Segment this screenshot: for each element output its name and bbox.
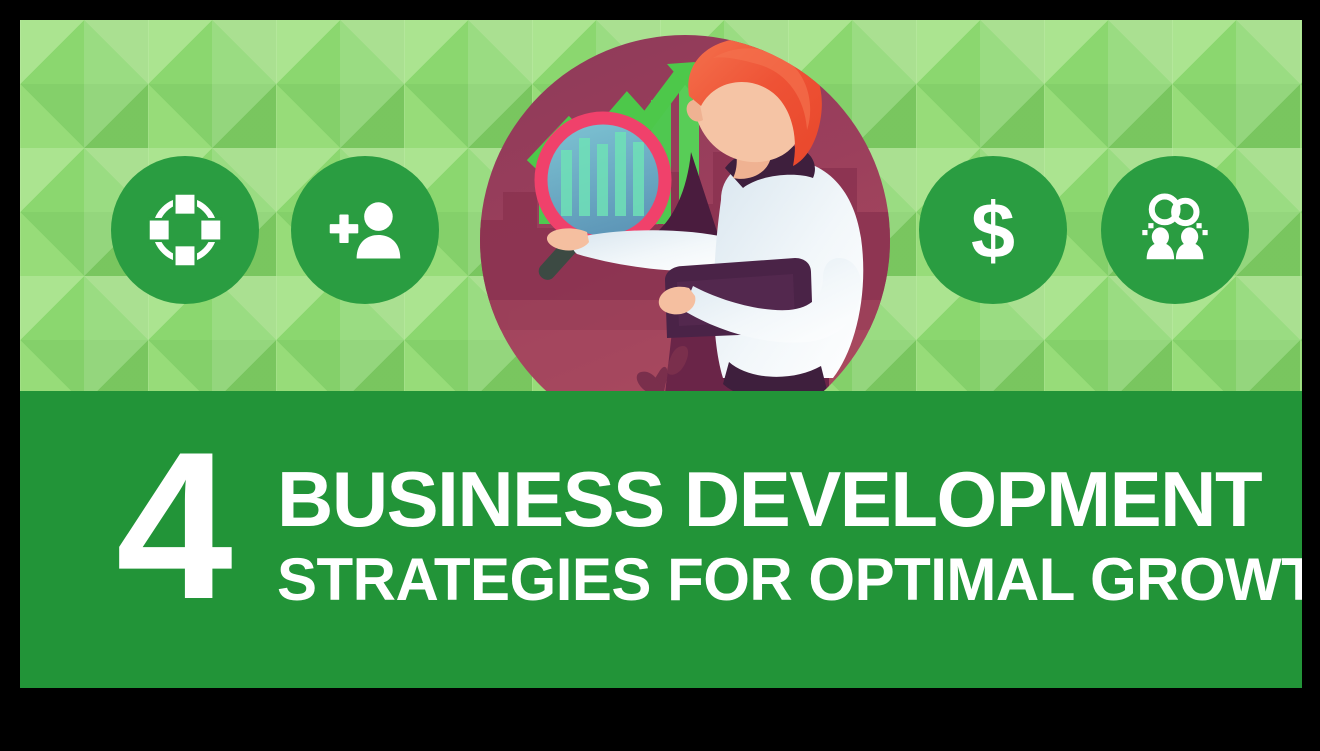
infographic-poster: $ xyxy=(20,20,1302,688)
target-icon-button[interactable] xyxy=(111,156,259,304)
partnership-icon-button[interactable] xyxy=(1101,156,1249,304)
title-subhead: STRATEGIES FOR OPTIMAL GROWTH xyxy=(277,549,1302,611)
title-wrapper: 4 BUSINESS DEVELOPMENT STRATEGIES FOR OP… xyxy=(20,391,1302,688)
svg-text:$: $ xyxy=(971,186,1015,275)
add-person-icon xyxy=(323,188,407,272)
title-band: 4 BUSINESS DEVELOPMENT STRATEGIES FOR OP… xyxy=(20,391,1302,688)
title-headline: BUSINESS DEVELOPMENT xyxy=(277,459,1261,539)
dollar-icon-button[interactable]: $ xyxy=(919,156,1067,304)
hero-section: $ xyxy=(20,20,1302,391)
add-person-icon-button[interactable] xyxy=(291,156,439,304)
title-number: 4 xyxy=(116,421,227,631)
target-icon xyxy=(142,187,228,273)
dollar-icon: $ xyxy=(947,184,1039,276)
partnership-icon xyxy=(1132,187,1218,273)
central-illustration xyxy=(477,32,893,391)
businessperson-analyzing-growth-chart-illustration xyxy=(477,32,893,391)
